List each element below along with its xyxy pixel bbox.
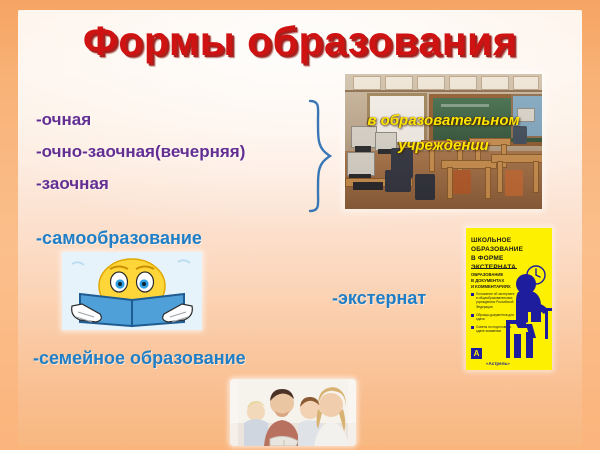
book-title-line2: ОБРАЗОВАНИЕ xyxy=(471,245,547,254)
smiley-reading-book-image xyxy=(62,252,202,330)
book-title-line1: ШКОЛЬНОЕ xyxy=(471,236,547,245)
classroom-caption-line2: учреждении xyxy=(345,133,542,158)
publisher-logo: A xyxy=(471,348,482,359)
book-cover-image: ШКОЛЬНОЕ ОБРАЗОВАНИЕ В ФОРМЕ ЭКСТЕРНАТА … xyxy=(466,228,552,370)
page-title: Формы образования xyxy=(0,18,600,65)
publisher-name: «Астрель» xyxy=(486,361,510,366)
classroom-caption-line1: в образовательном xyxy=(345,108,542,133)
list-item-correspondence: -заочная xyxy=(36,174,109,194)
list-item-full-time: -очная xyxy=(36,110,91,130)
slide-canvas: Формы образования -очная -очно-заочная(в… xyxy=(0,0,600,450)
right-curly-brace-icon xyxy=(306,98,336,214)
classroom-caption: в образовательном учреждении xyxy=(345,108,542,158)
label-family-education: -семейное образование xyxy=(33,348,246,369)
label-externship: -экстернат xyxy=(332,288,426,309)
list-item-part-time-evening: -очно-заочная(вечерняя) xyxy=(36,142,245,162)
student-silhouette-icon xyxy=(500,272,552,360)
family-reading-photo xyxy=(230,379,356,446)
label-self-education: -самообразование xyxy=(36,228,202,249)
